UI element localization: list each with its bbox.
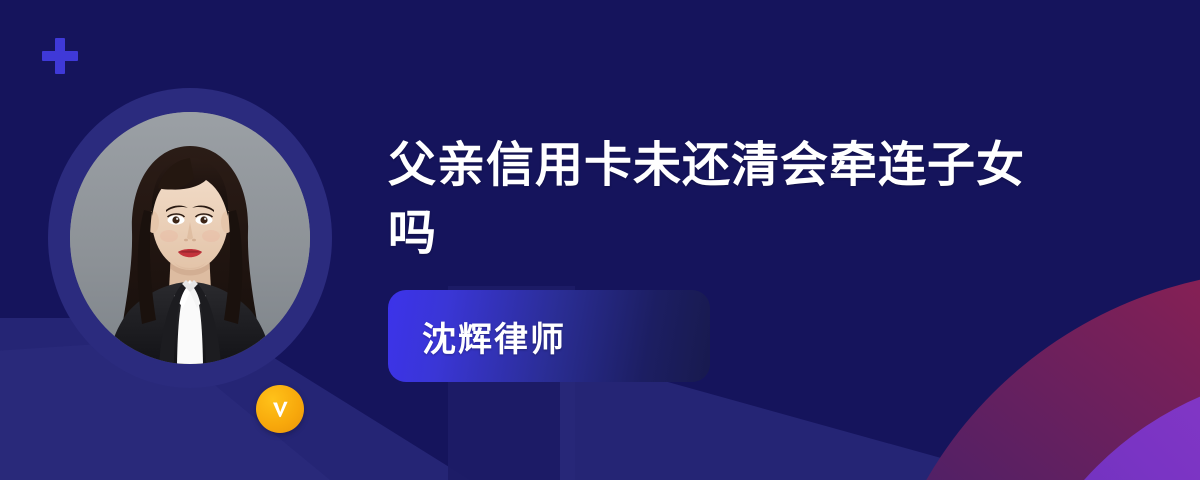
- check-v-icon: [266, 395, 294, 423]
- verified-badge: [256, 385, 304, 433]
- lawyer-name-button[interactable]: 沈辉律师: [388, 290, 710, 382]
- content-block: 父亲信用卡未还清会牵连子女吗 沈辉律师: [388, 132, 1148, 382]
- avatar[interactable]: [48, 88, 332, 388]
- lawyer-portrait-illustration: [70, 112, 310, 364]
- plus-icon: [42, 38, 78, 74]
- page-title: 父亲信用卡未还清会牵连子女吗: [388, 132, 1068, 268]
- avatar-photo: [70, 112, 310, 364]
- promo-banner: 父亲信用卡未还清会牵连子女吗 沈辉律师: [0, 0, 1200, 480]
- blob-inner-decor: [1000, 370, 1200, 480]
